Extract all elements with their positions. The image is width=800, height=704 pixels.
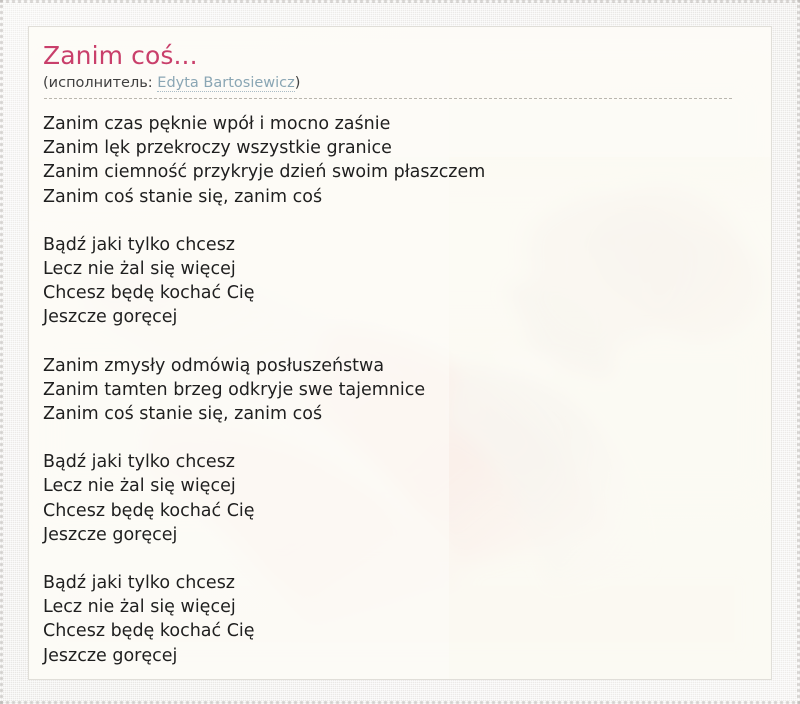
lyric-line: Jeszcze goręcej — [43, 523, 749, 547]
lyric-line: Bądź jaki tylko chcesz — [43, 450, 749, 474]
lyric-line: Chcesz będę kochać Cię — [43, 619, 749, 643]
lyric-stanza: Zanim zmysły odmówią posłuszeństwaZanim … — [43, 354, 749, 427]
lyric-line: Zanim ciemność przykryje dzień swoim pła… — [43, 160, 749, 184]
lyric-line: Zanim coś stanie się, zanim coś — [43, 185, 749, 209]
lyric-line: Lecz nie żal się więcej — [43, 474, 749, 498]
artist-line: (исполнитель: Edyta Bartosiewicz) — [43, 73, 749, 98]
lyric-line: Bądź jaki tylko chcesz — [43, 571, 749, 595]
lyric-line: Chcesz będę kochać Cię — [43, 281, 749, 305]
lyric-line: Zanim tamten brzeg odkryje swe tajemnice — [43, 378, 749, 402]
lyrics-card: Zanim coś... (исполнитель: Edyta Bartosi… — [28, 26, 772, 680]
lyric-line: Zanim czas pęknie wpół i mocno zaśnie — [43, 112, 749, 136]
artist-paren-close: ) — [295, 75, 301, 91]
lyric-line: Lecz nie żal się więcej — [43, 257, 749, 281]
lyric-line: Lecz nie żal się więcej — [43, 595, 749, 619]
title-divider — [44, 98, 732, 99]
lyric-line: Jeszcze goręcej — [43, 305, 749, 329]
lyric-stanza: Bądź jaki tylko chceszLecz nie żal się w… — [43, 233, 749, 330]
lyric-line: Zanim lęk przekroczy wszystkie granice — [43, 136, 749, 160]
artist-link[interactable]: Edyta Bartosiewicz — [157, 75, 294, 92]
card-content: Zanim coś... (исполнитель: Edyta Bartosi… — [29, 27, 771, 668]
lyric-stanza: Bądź jaki tylko chceszLecz nie żal się w… — [43, 450, 749, 547]
lyric-line: Bądź jaki tylko chcesz — [43, 233, 749, 257]
page-title: Zanim coś... — [43, 41, 749, 71]
lyric-line: Zanim coś stanie się, zanim coś — [43, 402, 749, 426]
lyric-stanza: Zanim czas pęknie wpół i mocno zaśnieZan… — [43, 112, 749, 209]
lyric-line: Zanim zmysły odmówią posłuszeństwa — [43, 354, 749, 378]
artist-label: исполнитель: — [49, 75, 153, 91]
lyric-line: Chcesz będę kochać Cię — [43, 499, 749, 523]
lyric-line: Jeszcze goręcej — [43, 644, 749, 668]
lyric-stanza: Bądź jaki tylko chceszLecz nie żal się w… — [43, 571, 749, 668]
lyrics-body: Zanim czas pęknie wpół i mocno zaśnieZan… — [43, 112, 749, 668]
